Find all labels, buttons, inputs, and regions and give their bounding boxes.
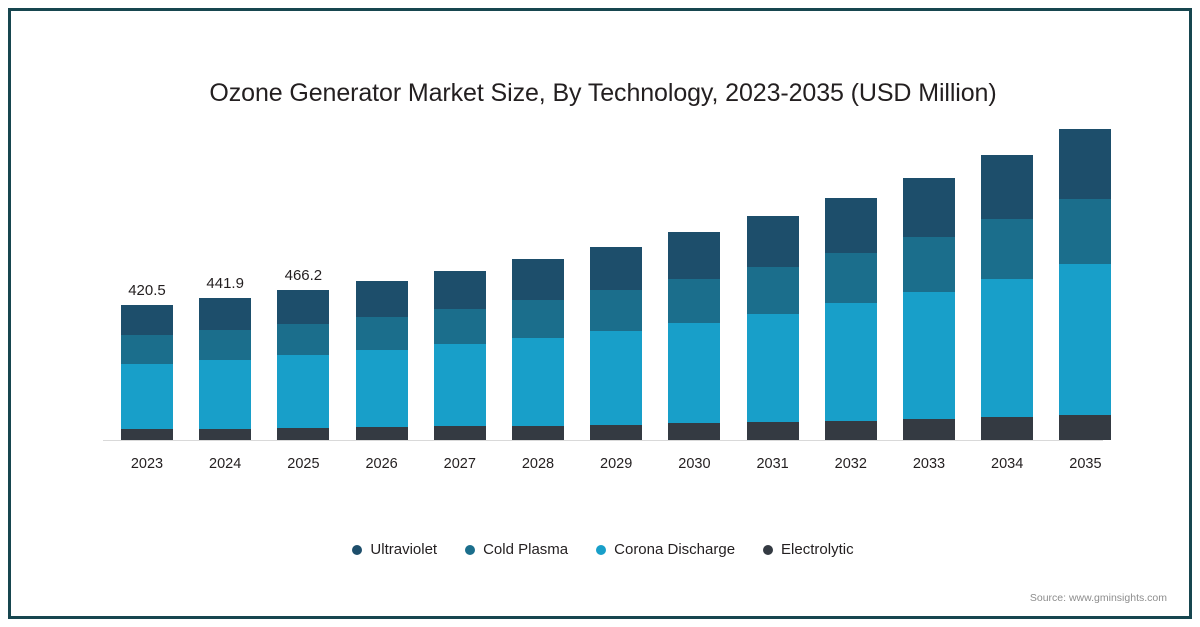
bar-segment-cold-plasma[interactable]	[590, 290, 642, 331]
bar-2024[interactable]	[199, 298, 251, 440]
x-axis-label-2034: 2034	[972, 456, 1042, 472]
x-axis-label-2026: 2026	[347, 456, 417, 472]
legend-swatch-icon	[465, 545, 475, 555]
bar-segment-ultraviolet[interactable]	[512, 259, 564, 300]
value-label-2023: 420.5	[102, 282, 192, 299]
bar-segment-electrolytic[interactable]	[356, 427, 408, 440]
bar-segment-cold-plasma[interactable]	[903, 237, 955, 292]
legend-item-ultraviolet[interactable]: Ultraviolet	[352, 541, 437, 558]
value-label-2024: 441.9	[180, 275, 270, 292]
bar-segment-ultraviolet[interactable]	[903, 178, 955, 237]
bar-segment-electrolytic[interactable]	[590, 425, 642, 440]
bar-segment-ultraviolet[interactable]	[981, 155, 1033, 219]
x-axis-label-2028: 2028	[503, 456, 573, 472]
x-axis-label-2035: 2035	[1050, 456, 1120, 472]
bar-segment-electrolytic[interactable]	[747, 422, 799, 440]
bar-segment-ultraviolet[interactable]	[277, 290, 329, 324]
bar-segment-electrolytic[interactable]	[1059, 415, 1111, 440]
bar-segment-cold-plasma[interactable]	[747, 267, 799, 314]
bar-segment-corona-discharge[interactable]	[981, 279, 1033, 417]
bar-segment-electrolytic[interactable]	[825, 421, 877, 440]
x-axis-line	[103, 440, 1103, 441]
legend-item-electrolytic[interactable]: Electrolytic	[763, 541, 854, 558]
bar-segment-ultraviolet[interactable]	[668, 232, 720, 279]
legend-label: Electrolytic	[781, 541, 854, 558]
bar-segment-corona-discharge[interactable]	[277, 355, 329, 428]
x-axis-label-2025: 2025	[268, 456, 338, 472]
bar-segment-ultraviolet[interactable]	[747, 216, 799, 266]
bar-2027[interactable]	[434, 271, 486, 440]
x-axis-label-2023: 2023	[112, 456, 182, 472]
bar-segment-ultraviolet[interactable]	[1059, 129, 1111, 199]
bar-segment-electrolytic[interactable]	[981, 417, 1033, 440]
bar-segment-cold-plasma[interactable]	[1059, 199, 1111, 264]
legend-label: Corona Discharge	[614, 541, 735, 558]
bar-2032[interactable]	[825, 198, 877, 440]
bar-segment-corona-discharge[interactable]	[512, 338, 564, 426]
x-axis-label-2031: 2031	[738, 456, 808, 472]
bar-segment-cold-plasma[interactable]	[121, 335, 173, 363]
legend-item-cold-plasma[interactable]: Cold Plasma	[465, 541, 568, 558]
bar-segment-cold-plasma[interactable]	[981, 219, 1033, 279]
bar-segment-electrolytic[interactable]	[512, 426, 564, 440]
bar-segment-cold-plasma[interactable]	[199, 330, 251, 360]
bar-segment-cold-plasma[interactable]	[277, 324, 329, 355]
bar-segment-electrolytic[interactable]	[434, 426, 486, 440]
legend-swatch-icon	[352, 545, 362, 555]
bar-segment-corona-discharge[interactable]	[668, 323, 720, 424]
bar-2030[interactable]	[668, 232, 720, 440]
bar-2035[interactable]	[1059, 129, 1111, 440]
value-label-2025: 466.2	[258, 267, 348, 284]
bar-2033[interactable]	[903, 178, 955, 440]
bar-segment-ultraviolet[interactable]	[199, 298, 251, 330]
bar-segment-electrolytic[interactable]	[199, 429, 251, 440]
bar-segment-corona-discharge[interactable]	[903, 292, 955, 419]
legend-swatch-icon	[596, 545, 606, 555]
legend-label: Cold Plasma	[483, 541, 568, 558]
bar-segment-corona-discharge[interactable]	[1059, 264, 1111, 415]
bar-2029[interactable]	[590, 247, 642, 440]
bar-segment-ultraviolet[interactable]	[434, 271, 486, 309]
bar-segment-corona-discharge[interactable]	[434, 344, 486, 426]
bar-segment-corona-discharge[interactable]	[747, 314, 799, 422]
chart-frame: Ozone Generator Market Size, By Technolo…	[8, 8, 1192, 619]
bar-2026[interactable]	[356, 281, 408, 440]
x-axis-label-2029: 2029	[581, 456, 651, 472]
bar-2023[interactable]	[121, 305, 173, 440]
bar-segment-corona-discharge[interactable]	[825, 303, 877, 420]
bar-segment-electrolytic[interactable]	[903, 419, 955, 440]
bar-2028[interactable]	[512, 259, 564, 440]
bar-segment-cold-plasma[interactable]	[356, 317, 408, 350]
x-axis-label-2027: 2027	[425, 456, 495, 472]
legend-label: Ultraviolet	[370, 541, 437, 558]
bar-2031[interactable]	[747, 216, 799, 440]
bar-segment-cold-plasma[interactable]	[512, 300, 564, 338]
bar-segment-ultraviolet[interactable]	[825, 198, 877, 252]
x-axis-label-2032: 2032	[816, 456, 886, 472]
bar-segment-cold-plasma[interactable]	[825, 253, 877, 304]
x-axis-label-2024: 2024	[190, 456, 260, 472]
bar-segment-corona-discharge[interactable]	[199, 360, 251, 429]
bar-segment-electrolytic[interactable]	[277, 428, 329, 440]
bar-segment-cold-plasma[interactable]	[668, 279, 720, 323]
bar-segment-ultraviolet[interactable]	[356, 281, 408, 317]
x-axis-label-2033: 2033	[894, 456, 964, 472]
bar-segment-ultraviolet[interactable]	[590, 247, 642, 291]
bar-segment-corona-discharge[interactable]	[356, 350, 408, 427]
bar-segment-ultraviolet[interactable]	[121, 305, 173, 335]
bar-segment-corona-discharge[interactable]	[121, 364, 173, 430]
legend-swatch-icon	[763, 545, 773, 555]
chart-legend: UltravioletCold PlasmaCorona DischargeEl…	[11, 541, 1195, 558]
source-attribution: Source: www.gminsights.com	[1030, 592, 1167, 604]
bar-2025[interactable]	[277, 290, 329, 440]
bar-segment-corona-discharge[interactable]	[590, 331, 642, 425]
bar-segment-electrolytic[interactable]	[668, 423, 720, 440]
bar-2034[interactable]	[981, 155, 1033, 440]
bar-segment-electrolytic[interactable]	[121, 429, 173, 440]
x-axis-label-2030: 2030	[659, 456, 729, 472]
legend-item-corona-discharge[interactable]: Corona Discharge	[596, 541, 735, 558]
bar-segment-cold-plasma[interactable]	[434, 309, 486, 345]
plot-area: 2023202420252026202720282029203020312032…	[11, 11, 1195, 622]
